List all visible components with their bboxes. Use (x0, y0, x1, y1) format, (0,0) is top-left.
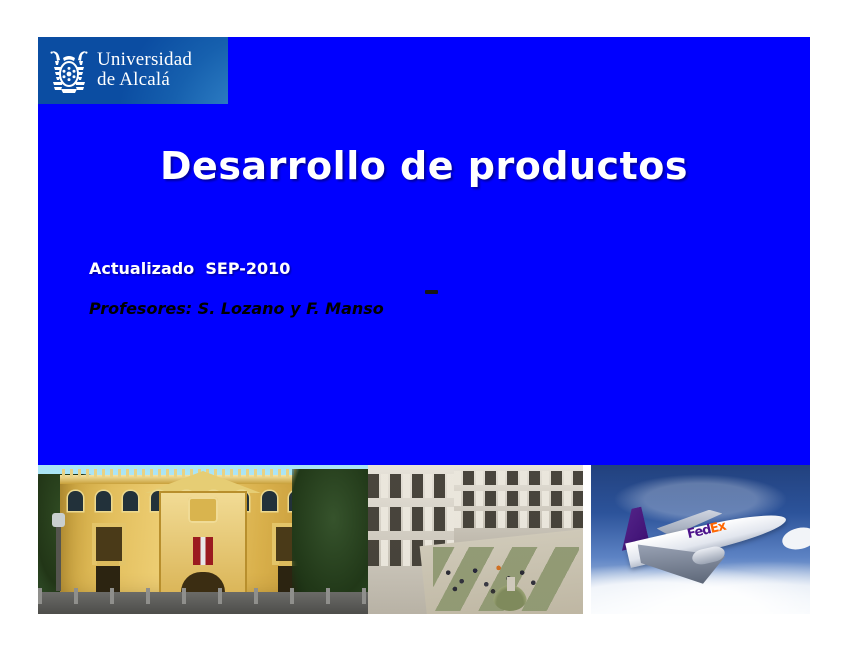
updated-date-label: Actualizado SEP-2010 (89, 259, 290, 278)
presentation-slide: Universidad de Alcalá Desarrollo de prod… (38, 37, 810, 614)
arcade-level-1 (441, 471, 583, 486)
photo-strip: FedEx (38, 465, 810, 614)
window (68, 491, 83, 511)
street-lamp (56, 523, 61, 591)
alcala-cloister-courtyard-photo (368, 465, 583, 614)
bollard-row (38, 588, 368, 604)
university-logo-text: Universidad de Alcalá (97, 50, 192, 92)
arcade-level-2 (441, 491, 583, 506)
central-fountain (493, 585, 527, 611)
spanish-flag (193, 537, 213, 565)
window (96, 491, 111, 511)
visitors-group (437, 557, 549, 596)
university-logo: Universidad de Alcalá (38, 37, 228, 104)
universidad-de-alcala-crest-icon (47, 45, 91, 97)
alcala-university-facade-photo (38, 465, 368, 614)
slide-title: Desarrollo de productos (38, 144, 810, 188)
fedex-cargo-aircraft-photo: FedEx (591, 465, 810, 614)
window (262, 491, 277, 511)
stone-coat-of-arms (188, 497, 218, 523)
photo-gap (583, 465, 591, 614)
arcade-level-2 (368, 507, 454, 531)
side-window-left (96, 527, 122, 561)
professors-label: Profesores: S. Lozano y F. Manso (89, 299, 384, 318)
stray-dash-mark (425, 290, 438, 294)
arcade-level-1 (368, 474, 454, 498)
arcade-level-3 (441, 511, 583, 528)
window (123, 491, 138, 511)
